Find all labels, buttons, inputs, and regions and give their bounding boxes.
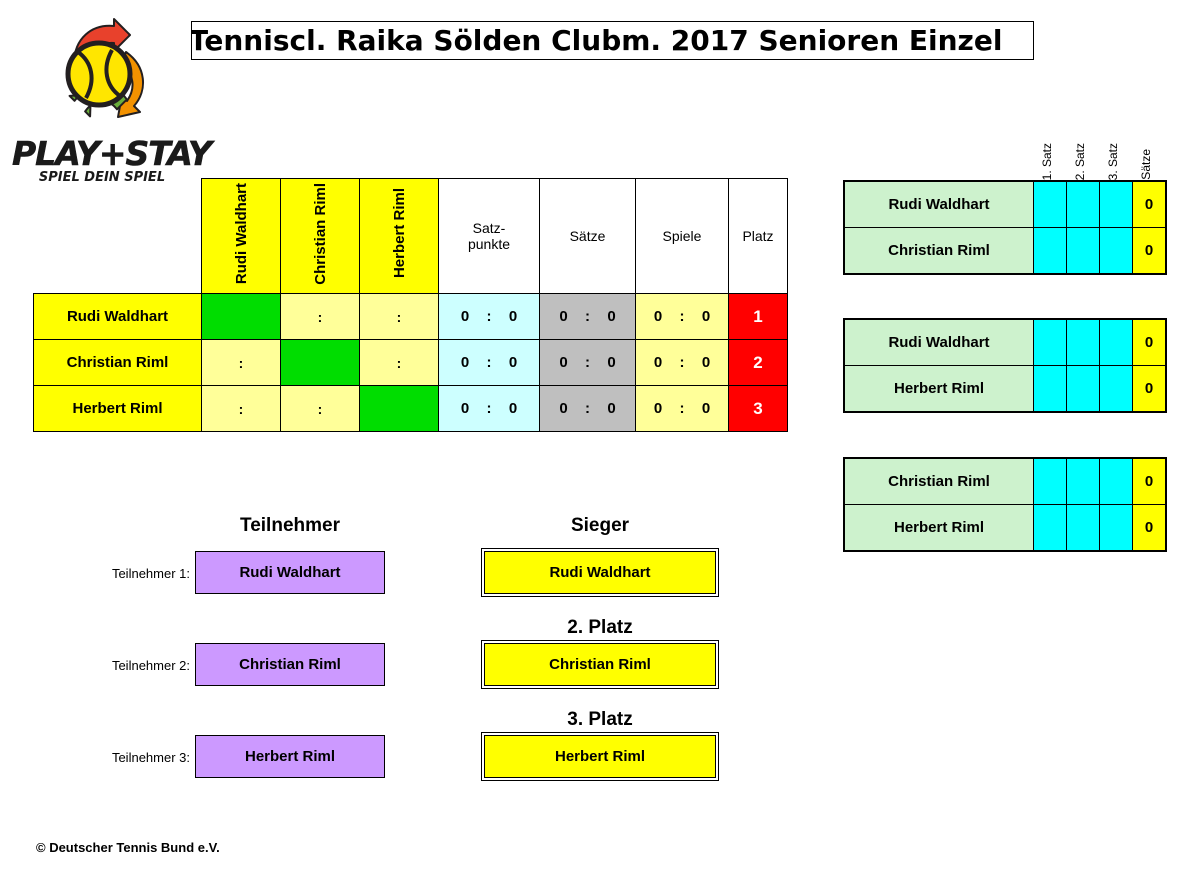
match-set1-input[interactable] — [1034, 366, 1067, 413]
play-and-stay-mark-icon — [30, 18, 170, 138]
sieger-box: Rudi Waldhart — [484, 551, 716, 594]
teilnehmer-label-3: Teilnehmer 3: — [85, 750, 190, 765]
logo-wordmark: PLAY+STAY — [12, 134, 192, 173]
match-row: Rudi Waldhart 0 — [844, 181, 1166, 228]
play-and-stay-logo: PLAY+STAY SPIEL DEIN SPIEL — [12, 18, 192, 193]
copyright-footer: © Deutscher Tennis Bund e.V. — [36, 840, 220, 855]
match-set2-input[interactable] — [1067, 228, 1100, 275]
column-header-player-2: Christian Riml — [281, 179, 360, 294]
row-player-name-3: Herbert Riml — [34, 386, 202, 432]
cell-platz-1: 1 — [729, 294, 788, 340]
platz2-heading: 2. Platz — [484, 617, 716, 639]
header-satz-3: 3. Satz — [1107, 143, 1119, 180]
header-satz-1: 1. Satz — [1041, 143, 1053, 180]
match-total-sets: 0 — [1133, 505, 1167, 552]
match-set3-input[interactable] — [1100, 366, 1133, 413]
cell-match-1-3[interactable]: : — [360, 294, 439, 340]
match-total-sets: 0 — [1133, 366, 1167, 413]
match-set1-input[interactable] — [1034, 319, 1067, 366]
cell-saetze-1: 0:0 — [540, 294, 636, 340]
header-satz-2: 2. Satz — [1074, 143, 1086, 180]
match-set1-input[interactable] — [1034, 505, 1067, 552]
match-row: Christian Riml 0 — [844, 228, 1166, 275]
cell-self-2-2 — [281, 340, 360, 386]
column-header-spiele: Spiele — [636, 179, 729, 294]
cell-match-2-3[interactable]: : — [360, 340, 439, 386]
match-player-name: Christian Riml — [844, 458, 1034, 505]
teilnehmer-box-1[interactable]: Rudi Waldhart — [195, 551, 385, 594]
cell-platz-3: 3 — [729, 386, 788, 432]
teilnehmer-box-2[interactable]: Christian Riml — [195, 643, 385, 686]
sieger-heading: Sieger — [484, 515, 716, 537]
row-player-name-2: Christian Riml — [34, 340, 202, 386]
table-row: Rudi Waldhart : : 0:0 0:0 0:0 1 — [34, 294, 788, 340]
teilnehmer-heading: Teilnehmer — [195, 515, 385, 537]
match-row: Rudi Waldhart 0 — [844, 319, 1166, 366]
match-total-sets: 0 — [1133, 181, 1167, 228]
match-set2-input[interactable] — [1067, 505, 1100, 552]
match-set1-input[interactable] — [1034, 458, 1067, 505]
match-player-name: Rudi Waldhart — [844, 181, 1034, 228]
teilnehmer-box-3[interactable]: Herbert Riml — [195, 735, 385, 778]
match-set1-input[interactable] — [1034, 181, 1067, 228]
cell-spiele-1: 0:0 — [636, 294, 729, 340]
cell-match-3-2[interactable]: : — [281, 386, 360, 432]
match-player-name: Herbert Riml — [844, 366, 1034, 413]
cell-saetze-2: 0:0 — [540, 340, 636, 386]
match-set3-input[interactable] — [1100, 181, 1133, 228]
column-header-player-1: Rudi Waldhart — [202, 179, 281, 294]
cell-satzpunkte-3: 0:0 — [439, 386, 540, 432]
match-table-3: Christian Riml 0 Herbert Riml 0 — [843, 457, 1167, 552]
match-set1-input[interactable] — [1034, 228, 1067, 275]
tournament-title-box: Tenniscl. Raika Sölden Clubm. 2017 Senio… — [191, 21, 1034, 60]
match-set2-input[interactable] — [1067, 366, 1100, 413]
match-set3-input[interactable] — [1100, 458, 1133, 505]
cross-table-header-row: Rudi Waldhart Christian Riml Herbert Rim… — [34, 179, 788, 294]
match-row: Herbert Riml 0 — [844, 505, 1166, 552]
cell-satzpunkte-1: 0:0 — [439, 294, 540, 340]
teilnehmer-label-1: Teilnehmer 1: — [85, 566, 190, 581]
teilnehmer-label-2: Teilnehmer 2: — [85, 658, 190, 673]
cell-match-2-1[interactable]: : — [202, 340, 281, 386]
table-row: Herbert Riml : : 0:0 0:0 0:0 3 — [34, 386, 788, 432]
cell-spiele-2: 0:0 — [636, 340, 729, 386]
match-block-2: Rudi Waldhart 0 Herbert Riml 0 — [843, 318, 1167, 413]
match-set3-input[interactable] — [1100, 505, 1133, 552]
column-header-satzpunkte: Satz- punkte — [439, 179, 540, 294]
match-player-name: Christian Riml — [844, 228, 1034, 275]
cell-saetze-3: 0:0 — [540, 386, 636, 432]
row-player-name-1: Rudi Waldhart — [34, 294, 202, 340]
platz3-heading: 3. Platz — [484, 709, 716, 731]
column-header-player-3: Herbert Riml — [360, 179, 439, 294]
match-player-name: Herbert Riml — [844, 505, 1034, 552]
cell-match-3-1[interactable]: : — [202, 386, 281, 432]
match-set3-input[interactable] — [1100, 319, 1133, 366]
column-header-platz: Platz — [729, 179, 788, 294]
cell-platz-2: 2 — [729, 340, 788, 386]
platz3-box: Herbert Riml — [484, 735, 716, 778]
cross-table-corner — [34, 179, 202, 294]
match-header-row: 1. Satz 2. Satz 3. Satz Sätze — [843, 118, 1159, 180]
match-set3-input[interactable] — [1100, 228, 1133, 275]
match-set2-input[interactable] — [1067, 458, 1100, 505]
match-total-sets: 0 — [1133, 458, 1167, 505]
cell-self-3-3 — [360, 386, 439, 432]
column-header-saetze: Sätze — [540, 179, 636, 294]
cell-satzpunkte-2: 0:0 — [439, 340, 540, 386]
match-table-1: Rudi Waldhart 0 Christian Riml 0 — [843, 180, 1167, 275]
cell-self-1-1 — [202, 294, 281, 340]
match-row: Herbert Riml 0 — [844, 366, 1166, 413]
match-row: Christian Riml 0 — [844, 458, 1166, 505]
header-saetze-total: Sätze — [1140, 149, 1152, 180]
match-block-1: 1. Satz 2. Satz 3. Satz Sätze Rudi Waldh… — [843, 118, 1167, 275]
match-set2-input[interactable] — [1067, 319, 1100, 366]
platz2-box: Christian Riml — [484, 643, 716, 686]
standings-cross-table: Rudi Waldhart Christian Riml Herbert Rim… — [33, 178, 788, 432]
match-table-2: Rudi Waldhart 0 Herbert Riml 0 — [843, 318, 1167, 413]
match-set2-input[interactable] — [1067, 181, 1100, 228]
cell-match-1-2[interactable]: : — [281, 294, 360, 340]
match-player-name: Rudi Waldhart — [844, 319, 1034, 366]
match-total-sets: 0 — [1133, 319, 1167, 366]
table-row: Christian Riml : : 0:0 0:0 0:0 2 — [34, 340, 788, 386]
match-total-sets: 0 — [1133, 228, 1167, 275]
match-block-3: Christian Riml 0 Herbert Riml 0 — [843, 457, 1167, 552]
cell-spiele-3: 0:0 — [636, 386, 729, 432]
tournament-title: Tenniscl. Raika Sölden Clubm. 2017 Senio… — [191, 27, 1002, 55]
